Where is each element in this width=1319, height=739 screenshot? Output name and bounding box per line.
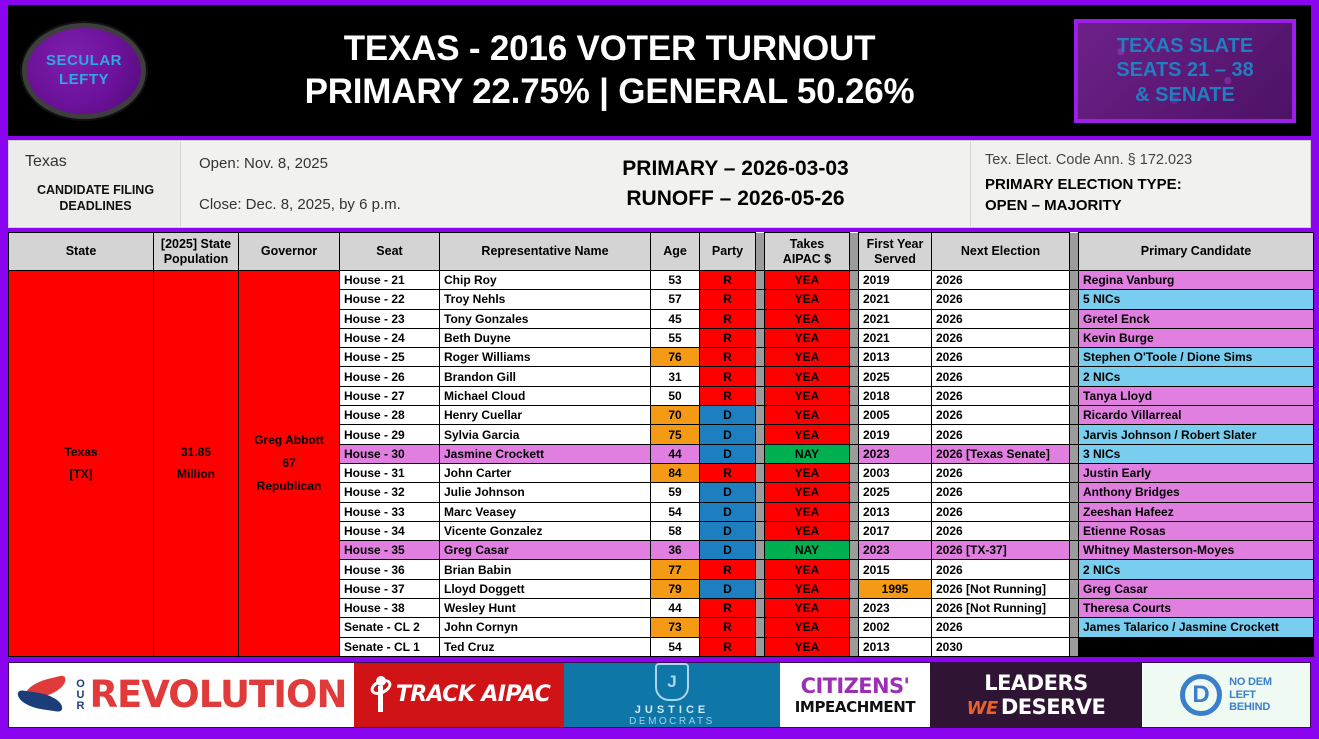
logo-citizens-impeachment[interactable]: CITIZENS' IMPEACHMENT [780,663,930,727]
cell-seat: House - 30 [340,444,440,463]
cell-party: R [700,463,756,482]
no-dem-left-behind-line1: NO DEM [1229,676,1272,689]
no-dem-left-behind-line3: BEHIND [1229,701,1272,714]
column-separator-3 [1070,618,1079,637]
column-separator-3 [1070,579,1079,598]
democrat-d-icon: D [1180,674,1222,716]
cell-party: D [700,502,756,521]
leaders-we-deserve-line2: DESERVE [1001,695,1106,719]
cell-aipac: YEA [765,309,850,328]
our-revolution-our: OUR [75,678,86,711]
column-separator-3 [1070,309,1079,328]
table-body: Texas[TX]31.85MillionGreg Abbott67Republ… [9,271,1314,657]
cell-aipac: NAY [765,541,850,560]
cell-aipac: YEA [765,328,850,347]
cell-first-year-served: 2013 [859,348,932,367]
filing-deadline-bar: Texas CANDIDATE FILING DEADLINES Open: N… [8,140,1311,228]
cell-first-year-served: 2019 [859,271,932,290]
col-header-party: Party [700,233,756,271]
population-value: 31.85 [158,441,234,464]
cell-party: R [700,599,756,618]
col-header-population: [2025] State Population [154,233,239,271]
column-separator-2 [850,560,859,579]
col-header-next-election: Next Election [932,233,1070,271]
governor-age: 67 [243,452,335,475]
cell-seat: House - 32 [340,483,440,502]
cell-first-year-served: 2023 [859,599,932,618]
cell-representative-name: Beth Duyne [440,328,651,347]
cell-party: R [700,367,756,386]
cell-first-year-served: 1995 [859,579,932,598]
slate-badge-wrap: TEXAS SLATE SEATS 21 – 38 & SENATE [1060,19,1310,123]
cell-party: D [700,425,756,444]
cell-primary-candidate: 2 NICs [1079,367,1314,386]
nic-footnote: NIC = Non Inspiring Candidate [1079,637,1314,656]
cell-next-election: 2026 [932,560,1070,579]
cell-primary-candidate: Ricardo Villarreal [1079,406,1314,425]
bird-icon [17,678,69,712]
column-separator-3 [1070,502,1079,521]
logo-no-dem-left-behind[interactable]: D NO DEM LEFT BEHIND [1142,663,1310,727]
cell-next-election: 2026 [932,406,1070,425]
col-header-aipac-line2: AIPAC $ [767,252,847,266]
cell-age: 57 [651,290,700,309]
column-separator-2 [850,386,859,405]
col-header-state: State [9,233,154,271]
cell-seat: House - 31 [340,463,440,482]
cell-party: R [700,328,756,347]
cell-age: 44 [651,599,700,618]
table-header-row: State [2025] State Population Governor S… [9,233,1314,271]
column-separator-3 [1070,637,1079,656]
header-banner: SECULAR LEFTY TEXAS - 2016 VOTER TURNOUT… [8,5,1311,136]
track-aipac-word: TRACK AIPAC [396,682,550,707]
cell-first-year-served: 2015 [859,560,932,579]
cell-aipac: YEA [765,406,850,425]
column-separator-1 [756,502,765,521]
column-separator-2 [850,541,859,560]
cell-next-election: 2026 [932,271,1070,290]
cell-next-election: 2026 [932,463,1070,482]
cell-first-year-served: 2013 [859,637,932,656]
cell-representative-name: Julie Johnson [440,483,651,502]
cell-first-year-served: 2023 [859,541,932,560]
cell-party: D [700,483,756,502]
deadline-subtitle-2: DEADLINES [25,199,166,215]
col-header-first-year: First Year Served [859,233,932,271]
col-header-population-line2: Population [156,252,236,266]
cell-representative-name: Tony Gonzales [440,309,651,328]
column-separator-3 [1070,444,1079,463]
cell-age: 54 [651,502,700,521]
column-separator-2 [850,348,859,367]
cell-primary-candidate: 3 NICs [1079,444,1314,463]
slate-line-2: SEATS 21 – 38 [1116,58,1253,82]
cell-age: 76 [651,348,700,367]
cell-next-election: 2026 [932,328,1070,347]
column-separator-1 [756,463,765,482]
cell-age: 75 [651,425,700,444]
column-separator-2 [850,444,859,463]
cell-first-year-served: 2023 [859,444,932,463]
cell-party: R [700,271,756,290]
column-separator-1 [756,309,765,328]
column-separator-1 [756,386,765,405]
column-separator-3 [1070,483,1079,502]
cell-representative-name: Lloyd Doggett [440,579,651,598]
cell-representative-name: Brandon Gill [440,367,651,386]
cell-primary-candidate: 5 NICs [1079,290,1314,309]
cell-age: 44 [651,444,700,463]
column-separator-1 [756,483,765,502]
column-separator-2 [850,483,859,502]
deadline-subtitle-1: CANDIDATE FILING [25,183,166,199]
column-separator-2 [850,406,859,425]
col-header-primary-candidate: Primary Candidate [1079,233,1314,271]
cell-next-election: 2026 [932,483,1070,502]
slate-infographic: SECULAR LEFTY TEXAS - 2016 VOTER TURNOUT… [0,0,1319,739]
cell-primary-candidate: Etienne Rosas [1079,521,1314,540]
primary-date: PRIMARY – 2026-03-03 [622,154,848,184]
cell-seat: Senate - CL 1 [340,637,440,656]
slate-line-1: TEXAS SLATE [1117,34,1253,58]
column-separator-1 [756,271,765,290]
cell-first-year-served: 2019 [859,425,932,444]
column-separator-2 [850,463,859,482]
cell-seat: House - 27 [340,386,440,405]
col-header-first-year-line2: Served [861,252,929,266]
cell-seat: Senate - CL 2 [340,618,440,637]
cell-representative-name: Wesley Hunt [440,599,651,618]
column-separator-3 [1070,463,1079,482]
cell-next-election: 2030 [932,637,1070,656]
primary-type-label: PRIMARY ELECTION TYPE: [985,175,1310,195]
column-separator-3 [1070,599,1079,618]
cell-party: R [700,618,756,637]
column-separator-1 [756,560,765,579]
cell-age: 54 [651,637,700,656]
cell-seat: House - 25 [340,348,440,367]
cell-next-election: 2026 [Not Running] [932,599,1070,618]
col-header-aipac: Takes AIPAC $ [765,233,850,271]
cell-age: 73 [651,618,700,637]
cell-next-election: 2026 [932,290,1070,309]
cell-first-year-served: 2013 [859,502,932,521]
cell-party: R [700,348,756,367]
column-separator-3 [1070,328,1079,347]
cell-next-election: 2026 [TX-37] [932,541,1070,560]
justice-democrats-line2: DEMOCRATS [629,716,715,727]
cell-first-year-served: 2002 [859,618,932,637]
deadline-state-name: Texas [25,153,180,171]
column-separator-3 [1070,271,1079,290]
cell-seat: House - 26 [340,367,440,386]
column-separator-2 [850,328,859,347]
cell-aipac: YEA [765,618,850,637]
column-separator-1 [756,444,765,463]
column-separator-1 [756,290,765,309]
leaders-we-deserve-line1: LEADERS [967,671,1106,695]
logo-track-aipac[interactable]: TRACK AIPAC [354,663,564,727]
cell-first-year-served: 2021 [859,309,932,328]
cell-party: R [700,290,756,309]
col-header-seat: Seat [340,233,440,271]
cell-seat: House - 33 [340,502,440,521]
logo-line2: LEFTY [59,71,109,90]
cell-representative-name: Vicente Gonzalez [440,521,651,540]
title-line-1: TEXAS - 2016 VOTER TURNOUT [159,28,1060,71]
cell-aipac: YEA [765,599,850,618]
cell-first-year-served: 2021 [859,328,932,347]
population-unit: Million [158,463,234,486]
cell-next-election: 2026 [932,348,1070,367]
column-separator-1 [756,637,765,656]
cell-first-year-served: 2021 [859,290,932,309]
magnifier-person-icon [368,676,394,714]
column-separator-1 [756,541,765,560]
column-separator-1 [756,618,765,637]
cell-seat: House - 21 [340,271,440,290]
slate-table: State [2025] State Population Governor S… [8,232,1314,657]
deadline-dates-cell: Open: Nov. 8, 2025 Close: Dec. 8, 2025, … [181,141,501,227]
filing-open-date: Open: Nov. 8, 2025 [199,155,501,172]
cell-primary-candidate: Greg Casar [1079,579,1314,598]
cell-representative-name: Greg Casar [440,541,651,560]
cell-representative-name: Marc Veasey [440,502,651,521]
col-header-aipac-line1: Takes [767,237,847,251]
cell-age: 77 [651,560,700,579]
cell-party: D [700,521,756,540]
cell-primary-candidate: Justin Early [1079,463,1314,482]
citizens-impeachment-line2: IMPEACHMENT [795,698,915,716]
logo-line1: SECULAR [46,52,122,71]
cell-aipac: YEA [765,579,850,598]
cell-primary-candidate: Anthony Bridges [1079,483,1314,502]
column-separator-3 [1070,425,1079,444]
column-separator-2 [850,309,859,328]
col-header-governor: Governor [239,233,340,271]
partner-logo-bar: OUR REVOLUTION TRACK AIPAC J JUSTICE DEM… [8,662,1311,728]
column-separator-3 [1070,541,1079,560]
primary-dates-cell: PRIMARY – 2026-03-03 RUNOFF – 2026-05-26 [501,141,970,227]
column-separator-2 [850,502,859,521]
logo-our-revolution[interactable]: OUR REVOLUTION [9,663,354,727]
shield-icon: J [655,663,689,701]
cell-representative-name: Chip Roy [440,271,651,290]
column-separator-3 [1070,290,1079,309]
column-separator-2 [850,637,859,656]
cell-aipac: YEA [765,425,850,444]
cell-age: 84 [651,463,700,482]
title-line-2: PRIMARY 22.75% | GENERAL 50.26% [159,71,1060,114]
secular-lefty-logo: SECULAR LEFTY [22,23,146,119]
governor-cell: Greg Abbott67Republican [239,271,340,657]
cell-age: 31 [651,367,700,386]
cell-seat: House - 22 [340,290,440,309]
col-header-first-year-line1: First Year [861,237,929,251]
column-separator-2 [850,425,859,444]
cell-next-election: 2026 [932,521,1070,540]
column-separator-1 [756,233,765,271]
cell-party: D [700,541,756,560]
cell-next-election: 2026 [Texas Senate] [932,444,1070,463]
cell-aipac: YEA [765,463,850,482]
state-cell: Texas[TX] [9,271,154,657]
cell-party: R [700,560,756,579]
logo-leaders-we-deserve[interactable]: LEADERS WEDESERVE [930,663,1142,727]
state-name: Texas [13,441,149,464]
cell-first-year-served: 2025 [859,367,932,386]
cell-aipac: YEA [765,348,850,367]
cell-seat: House - 23 [340,309,440,328]
cell-representative-name: Brian Babin [440,560,651,579]
column-separator-2 [850,579,859,598]
cell-first-year-served: 2025 [859,483,932,502]
state-abbr: [TX] [13,463,149,486]
cell-seat: House - 24 [340,328,440,347]
justice-democrats-line1: JUSTICE [635,704,709,716]
cell-next-election: 2026 [Not Running] [932,579,1070,598]
column-separator-3 [1070,521,1079,540]
cell-primary-candidate: Gretel Enck [1079,309,1314,328]
column-separator-1 [756,599,765,618]
cell-age: 58 [651,521,700,540]
cell-age: 70 [651,406,700,425]
table-row: Texas[TX]31.85MillionGreg Abbott67Republ… [9,271,1314,290]
our-revolution-word: REVOLUTION [90,673,347,716]
cell-aipac: NAY [765,444,850,463]
column-separator-1 [756,406,765,425]
cell-aipac: YEA [765,637,850,656]
cell-first-year-served: 2017 [859,521,932,540]
slate-badge: TEXAS SLATE SEATS 21 – 38 & SENATE [1074,19,1296,123]
cell-seat: House - 37 [340,579,440,598]
cell-party: D [700,444,756,463]
column-separator-3 [1070,560,1079,579]
cell-representative-name: Roger Williams [440,348,651,367]
cell-representative-name: John Cornyn [440,618,651,637]
column-separator-3 [1070,406,1079,425]
cell-next-election: 2026 [932,618,1070,637]
cell-first-year-served: 2018 [859,386,932,405]
cell-representative-name: Michael Cloud [440,386,651,405]
cell-primary-candidate: 2 NICs [1079,560,1314,579]
cell-age: 45 [651,309,700,328]
cell-aipac: YEA [765,560,850,579]
col-header-age: Age [651,233,700,271]
column-separator-1 [756,425,765,444]
column-separator-3 [1070,233,1079,271]
deadline-state-cell: Texas CANDIDATE FILING DEADLINES [9,141,181,227]
cell-age: 36 [651,541,700,560]
cell-primary-candidate: Theresa Courts [1079,599,1314,618]
cell-party: R [700,309,756,328]
cell-aipac: YEA [765,386,850,405]
runoff-date: RUNOFF – 2026-05-26 [626,184,844,214]
cell-primary-candidate: Jarvis Johnson / Robert Slater [1079,425,1314,444]
cell-party: D [700,579,756,598]
cell-party: R [700,386,756,405]
column-separator-2 [850,271,859,290]
page-title: TEXAS - 2016 VOTER TURNOUT PRIMARY 22.75… [159,28,1060,113]
cell-representative-name: Sylvia Garcia [440,425,651,444]
cell-age: 55 [651,328,700,347]
cell-seat: House - 38 [340,599,440,618]
cell-representative-name: Troy Nehls [440,290,651,309]
cell-next-election: 2026 [932,309,1070,328]
cell-aipac: YEA [765,271,850,290]
column-separator-2 [850,367,859,386]
cell-primary-candidate: James Talarico / Jasmine Crockett [1079,618,1314,637]
cell-next-election: 2026 [932,386,1070,405]
cell-party: R [700,637,756,656]
column-separator-2 [850,618,859,637]
column-separator-2 [850,521,859,540]
cell-primary-candidate: Regina Vanburg [1079,271,1314,290]
election-code-citation: Tex. Elect. Code Ann. § 172.023 [985,152,1310,168]
column-separator-1 [756,521,765,540]
column-separator-2 [850,290,859,309]
cell-age: 79 [651,579,700,598]
cell-next-election: 2026 [932,502,1070,521]
column-separator-3 [1070,348,1079,367]
cell-next-election: 2026 [932,367,1070,386]
cell-age: 53 [651,271,700,290]
citizens-impeachment-line1: CITIZENS' [795,674,915,698]
cell-seat: House - 36 [340,560,440,579]
cell-seat: House - 35 [340,541,440,560]
primary-type-value: OPEN – MAJORITY [985,196,1310,216]
slate-table-wrap: State [2025] State Population Governor S… [8,232,1311,657]
cell-representative-name: John Carter [440,463,651,482]
column-separator-3 [1070,386,1079,405]
column-separator-1 [756,367,765,386]
cell-party: D [700,406,756,425]
election-code-cell: Tex. Elect. Code Ann. § 172.023 PRIMARY … [970,141,1310,227]
cell-seat: House - 34 [340,521,440,540]
column-separator-2 [850,599,859,618]
cell-aipac: YEA [765,502,850,521]
logo-justice-democrats[interactable]: J JUSTICE DEMOCRATS [564,663,780,727]
governor-party: Republican [243,475,335,498]
column-separator-2 [850,233,859,271]
cell-primary-candidate: Kevin Burge [1079,328,1314,347]
governor-name: Greg Abbott [243,429,335,452]
cell-primary-candidate: Zeeshan Hafeez [1079,502,1314,521]
leaders-we-deserve-we: WE [967,698,998,719]
slate-line-3: & SENATE [1135,83,1235,107]
cell-first-year-served: 2003 [859,463,932,482]
cell-representative-name: Jasmine Crockett [440,444,651,463]
no-dem-left-behind-line2: LEFT [1229,689,1272,702]
cell-aipac: YEA [765,483,850,502]
cell-age: 50 [651,386,700,405]
column-separator-1 [756,579,765,598]
cell-primary-candidate: Stephen O'Toole / Dione Sims [1079,348,1314,367]
cell-seat: House - 28 [340,406,440,425]
filing-close-date: Close: Dec. 8, 2025, by 6 p.m. [199,196,501,213]
cell-seat: House - 29 [340,425,440,444]
cell-primary-candidate: Whitney Masterson-Moyes [1079,541,1314,560]
cell-representative-name: Ted Cruz [440,637,651,656]
cell-first-year-served: 2005 [859,406,932,425]
cell-representative-name: Henry Cuellar [440,406,651,425]
cell-next-election: 2026 [932,425,1070,444]
cell-age: 59 [651,483,700,502]
column-separator-3 [1070,367,1079,386]
col-header-population-line1: [2025] State [156,237,236,251]
cell-primary-candidate: Tanya Lloyd [1079,386,1314,405]
